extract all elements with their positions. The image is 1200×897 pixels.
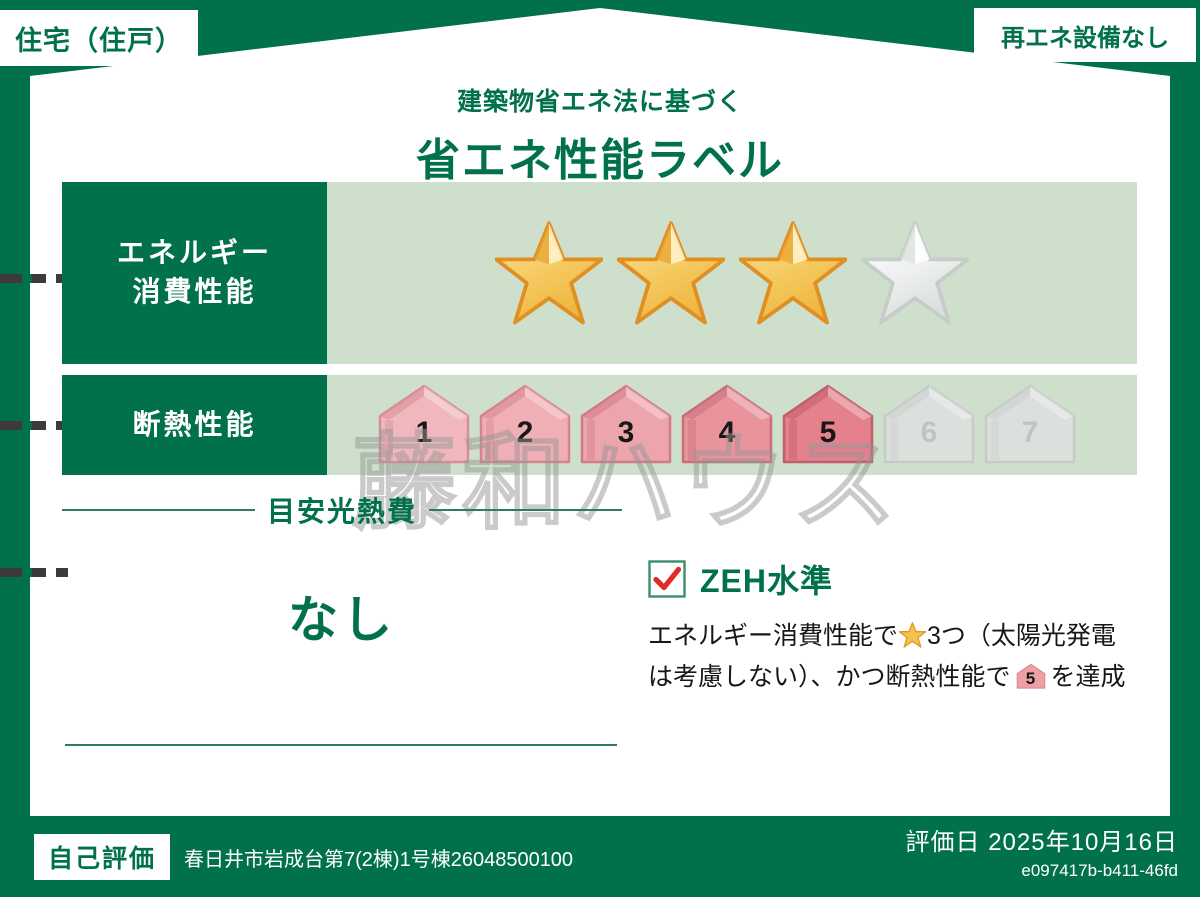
- energy-performance-label: 住宅（住戸） 再エネ設備なし 建築物省エネ法に基づく 省エネ性能ラベル エネルギ…: [0, 0, 1200, 897]
- star-icon-filled: [739, 221, 847, 325]
- house-icon-filled: 1: [376, 382, 472, 468]
- energy-label-line1: エネルギー: [117, 234, 272, 273]
- zeh-desc-part4: を達成: [1051, 663, 1126, 691]
- house-icon-filled: 4: [679, 382, 775, 468]
- house-level-number: 6: [881, 382, 977, 468]
- evaluation-type-badge: 自己評価: [34, 834, 170, 880]
- fold-tick-mark-1: [0, 274, 68, 283]
- zeh-title-text: ZEH水準: [700, 556, 833, 602]
- renewable-equipment-badge: 再エネ設備なし: [974, 8, 1196, 62]
- footer-left-group: 自己評価 春日井市岩成台第7(2棟)1号棟26048500100: [34, 834, 573, 880]
- heading-rule-left: [62, 509, 255, 511]
- building-type-badge: 住宅（住戸）: [0, 10, 198, 66]
- star-rating: [495, 221, 969, 325]
- heading-rule-right: [429, 509, 622, 511]
- zeh-desc-part1: エネルギー消費性能で: [648, 622, 898, 650]
- house-level-number: 7: [982, 382, 1078, 468]
- insulation-rating-value: 1234567: [327, 375, 1137, 475]
- house-level-number: 1: [376, 382, 472, 468]
- fold-tick-mark-2: [0, 421, 68, 430]
- zeh-description: エネルギー消費性能で 3つ（太陽光発電 は考慮しない）、かつ断熱性能で 5 を達…: [648, 616, 1148, 697]
- property-address: 春日井市岩成台第7(2棟)1号棟26048500100: [184, 843, 573, 872]
- energy-label-line2: 消費性能: [132, 273, 256, 312]
- house-level-number: 2: [477, 382, 573, 468]
- energy-performance-row: エネルギー 消費性能: [62, 182, 1137, 364]
- house-icon-empty: 7: [982, 382, 1078, 468]
- zeh-desc-part3: は考慮しない）、かつ断熱性能で: [648, 663, 1011, 691]
- house-level-number: 3: [578, 382, 674, 468]
- insulation-performance-label: 断熱性能: [62, 375, 327, 475]
- house-icon-level: 5: [1014, 663, 1048, 690]
- document-id: e097417b-b411-46fd: [906, 861, 1178, 881]
- fold-tick-mark-3: [0, 568, 68, 577]
- house-icon-filled: 2: [477, 382, 573, 468]
- zeh-standard-panel: ZEH水準 エネルギー消費性能で 3つ（太陽光発電 は考慮しない）、かつ断熱性能…: [648, 556, 1148, 697]
- house-level-number: 4: [679, 382, 775, 468]
- utility-cost-heading-text: 目安光熱費: [267, 490, 417, 530]
- star-icon: [899, 620, 926, 646]
- footer-right-group: 評価日 2025年10月16日 e097417b-b411-46fd: [906, 822, 1178, 881]
- insulation-performance-row: 断熱性能 1234567: [62, 375, 1137, 475]
- section-divider-rule: [65, 744, 617, 746]
- utility-cost-heading: 目安光熱費: [62, 490, 622, 530]
- zeh-heading: ZEH水準: [648, 556, 1148, 602]
- evaluation-date: 評価日 2025年10月16日: [906, 822, 1178, 857]
- house-icon: 5: [1014, 663, 1048, 690]
- house-icon-filled: 3: [578, 382, 674, 468]
- house-level-number: 5: [780, 382, 876, 468]
- insulation-level-scale: 1234567: [376, 382, 1078, 468]
- star-icon-filled: [495, 221, 603, 325]
- utility-cost-value: なし: [62, 580, 622, 652]
- house-icon-empty: 6: [881, 382, 977, 468]
- energy-rating-value: [327, 182, 1137, 364]
- zeh-desc-part2: 3つ（太陽光発電: [927, 622, 1116, 650]
- checkbox-checked-icon: [648, 560, 686, 598]
- insulation-label-text: 断熱性能: [132, 406, 256, 445]
- energy-performance-label: エネルギー 消費性能: [62, 182, 327, 364]
- star-icon-empty: [861, 221, 969, 325]
- house-icon-filled: 5: [780, 382, 876, 468]
- star-icon-filled: [617, 221, 725, 325]
